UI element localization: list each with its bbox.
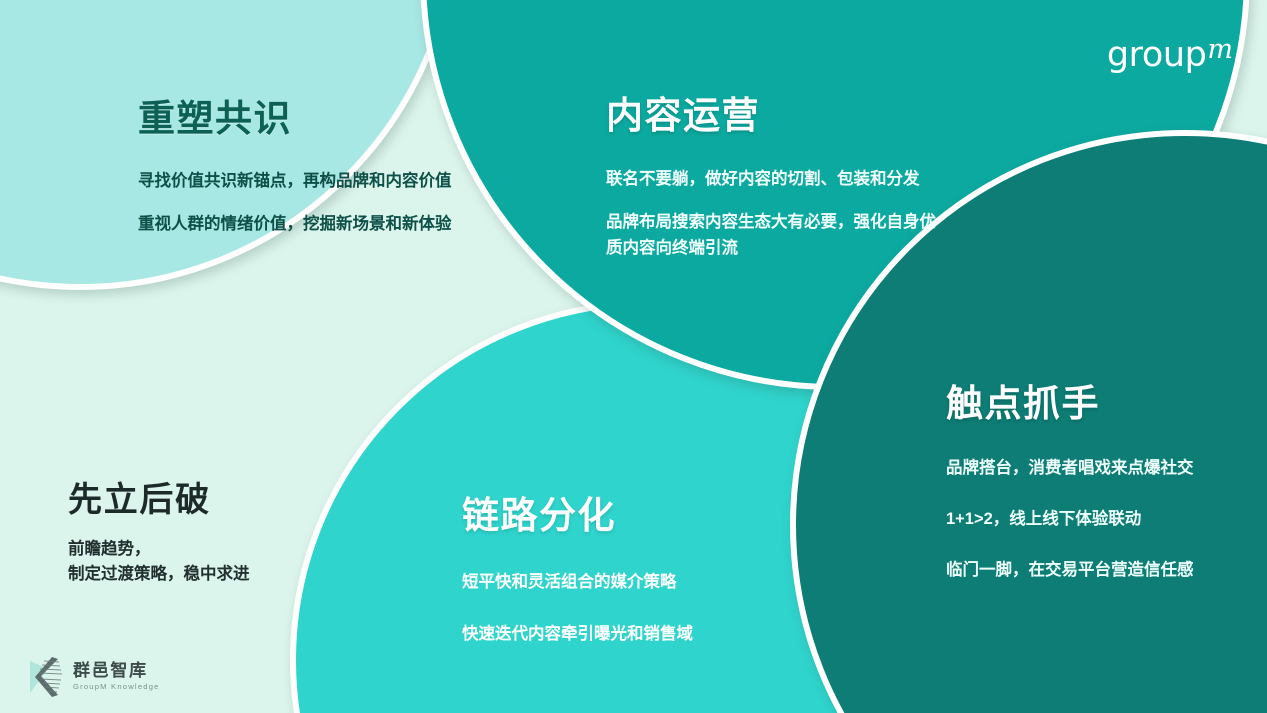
panel-content-operation: 内容运营 联名不要躺，做好内容的切割、包装和分发 品牌布局搜索内容生态大有必要，… (606, 85, 951, 262)
groupm-logo-word: group (1107, 38, 1207, 73)
panel-touchpoint-handle: 触点抓手 品牌搭台，消费者唱戏来点爆社交 1+1>2，线上线下体验联动 临门一脚… (946, 373, 1246, 583)
slide-canvas: 重塑共识 寻找价值共识新锚点，再构品牌和内容价值 重视人群的情绪价值，挖掘新场景… (0, 0, 1267, 713)
panel-body-content-operation: 联名不要躺，做好内容的切割、包装和分发 品牌布局搜索内容生态大有必要，强化自身优… (606, 166, 951, 262)
panel-bullet: 快速迭代内容牵引曝光和销售域 (462, 621, 802, 647)
panel-reshape-consensus: 重塑共识 寻找价值共识新锚点，再构品牌和内容价值 重视人群的情绪价值，挖掘新场景… (138, 88, 468, 237)
groupm-logo: group m (1107, 38, 1233, 73)
panel-bullet: 前瞻趋势， (68, 537, 398, 562)
panel-bullet: 品牌布局搜索内容生态大有必要，强化自身优质内容向终端引流 (606, 209, 951, 261)
panel-bullet: 联名不要躺，做好内容的切割、包装和分发 (606, 166, 951, 192)
panel-bullet: 1+1>2，线上线下体验联动 (946, 506, 1246, 532)
panel-body-reshape-consensus: 寻找价值共识新锚点，再构品牌和内容价值 重视人群的情绪价值，挖掘新场景和新体验 (138, 168, 468, 237)
groupm-knowledge-logo-text: 群邑智库 GroupM Knowledge (73, 662, 160, 691)
panel-link-differentiation: 链路分化 短平快和灵活组合的媒介策略 快速迭代内容牵引曝光和销售域 (462, 485, 802, 647)
panel-body-touchpoint-handle: 品牌搭台，消费者唱戏来点爆社交 1+1>2，线上线下体验联动 临门一脚，在交易平… (946, 455, 1246, 583)
groupm-knowledge-name-en: GroupM Knowledge (73, 683, 160, 691)
panel-title-reshape-consensus: 重塑共识 (138, 88, 468, 142)
panel-body-link-differentiation: 短平快和灵活组合的媒介策略 快速迭代内容牵引曝光和销售域 (462, 569, 802, 647)
groupm-knowledge-name-cn: 群邑智库 (73, 662, 160, 681)
panel-title-establish-then-break: 先立后破 (68, 472, 398, 521)
panel-bullet: 品牌搭台，消费者唱戏来点爆社交 (946, 455, 1246, 481)
panel-bullet: 短平快和灵活组合的媒介策略 (462, 569, 802, 595)
panel-bullet: 寻找价值共识新锚点，再构品牌和内容价值 (138, 168, 468, 194)
groupm-logo-mark: m (1207, 36, 1233, 63)
panel-establish-then-break: 先立后破 前瞻趋势， 制定过渡策略，稳中求进 (68, 472, 398, 587)
groupm-knowledge-logo: 群邑智库 GroupM Knowledge (28, 655, 160, 699)
panel-title-content-operation: 内容运营 (606, 85, 951, 139)
panel-bullet: 制定过渡策略，稳中求进 (68, 562, 398, 587)
panel-bullet: 重视人群的情绪价值，挖掘新场景和新体验 (138, 211, 468, 237)
panel-bullet: 临门一脚，在交易平台营造信任感 (946, 557, 1246, 583)
panel-body-establish-then-break: 前瞻趋势， 制定过渡策略，稳中求进 (68, 537, 398, 587)
stylized-k-arrow-icon (28, 655, 64, 699)
panel-title-link-differentiation: 链路分化 (462, 485, 802, 539)
panel-title-touchpoint-handle: 触点抓手 (946, 373, 1246, 427)
